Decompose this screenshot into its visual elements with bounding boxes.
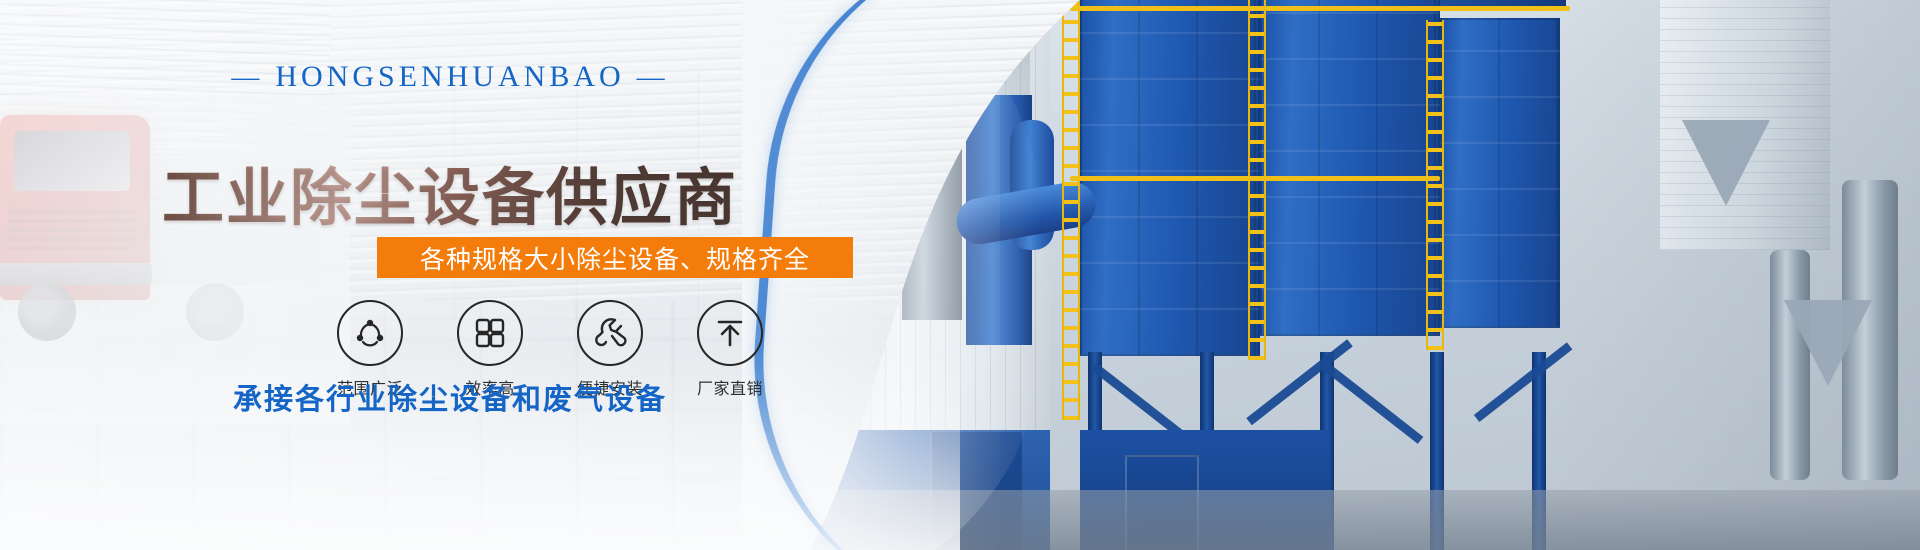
yellow-handrail-mid (1070, 176, 1440, 181)
photo-hopper-2 (1682, 120, 1770, 206)
banner-tagline: 承接各行业除尘设备和废气设备 (0, 376, 900, 418)
support-brace (1323, 363, 1423, 444)
grid-squares-icon (457, 300, 523, 366)
support-brace (1474, 342, 1573, 422)
yellow-handrail-top (1070, 6, 1570, 11)
promo-badge-label: 各种规格大小除尘设备、规格齐全 (420, 240, 810, 276)
banner-content: —HONGSENHUANBAO— 工业除尘设备供应商 各种规格大小除尘设备、规格… (0, 0, 900, 550)
arrow-up-bar-icon (697, 300, 763, 366)
wrench-icon (577, 300, 643, 366)
promo-badge: 各种规格大小除尘设备、规格齐全 (377, 237, 853, 278)
baghouse-module-b (1260, 0, 1440, 336)
eyebrow-dash-right: — (637, 62, 669, 94)
share-nodes-icon (337, 300, 403, 366)
hero-banner: —HONGSENHUANBAO— 工业除尘设备供应商 各种规格大小除尘设备、规格… (0, 0, 1920, 550)
eyebrow-text: HONGSENHUANBAO (275, 60, 624, 93)
baghouse-module-c (1440, 18, 1560, 328)
photo-hopper-1 (1784, 300, 1872, 386)
yellow-ladder-3 (1426, 20, 1444, 350)
eyebrow-dash-left: — (231, 62, 263, 94)
page-title: 工业除尘设备供应商 (0, 147, 900, 237)
brand-eyebrow: —HONGSENHUANBAO— (0, 60, 900, 94)
yellow-ladder-1 (1062, 0, 1080, 420)
